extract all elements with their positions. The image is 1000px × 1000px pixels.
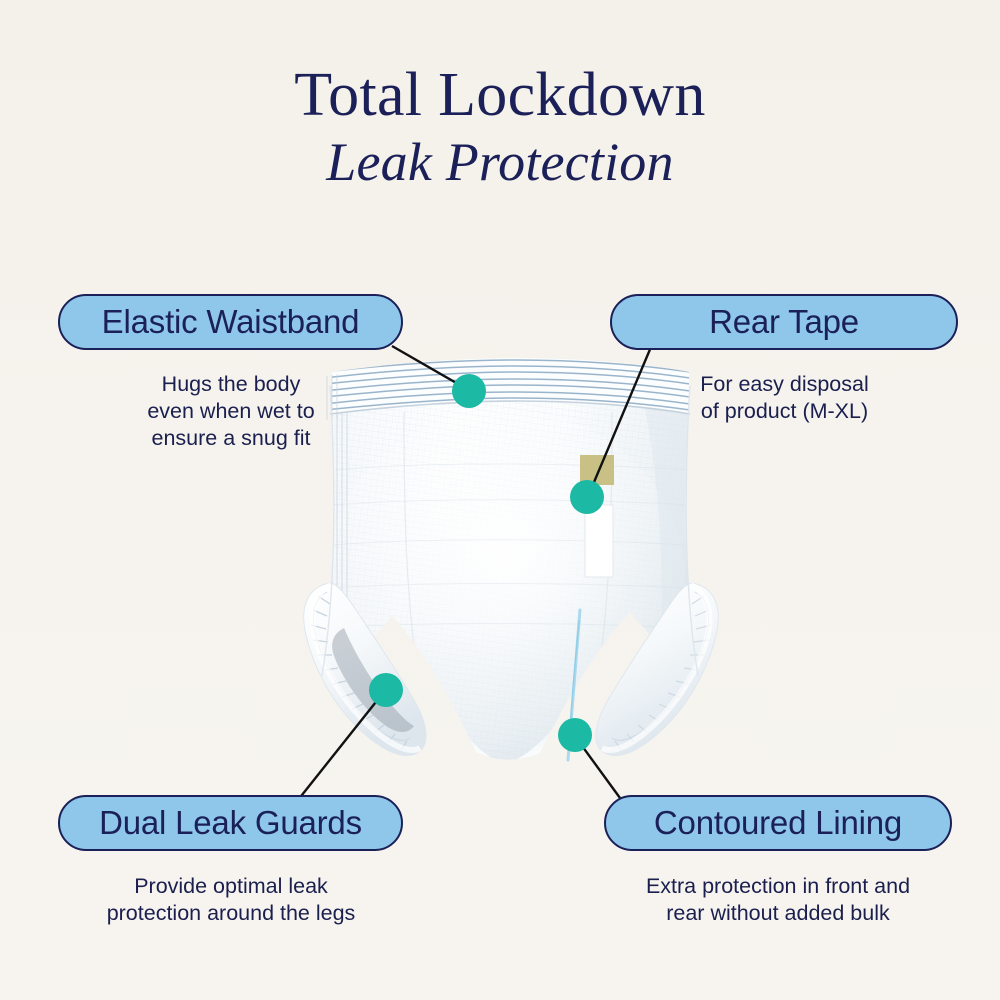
callout-pill-rear-tape[interactable]: Rear Tape <box>610 294 958 350</box>
caption-line: Hugs the body <box>70 371 392 398</box>
caption-line: of product (M-XL) <box>622 398 947 425</box>
caption-line: protection around the legs <box>56 900 406 927</box>
dot-elastic-waistband <box>452 374 486 408</box>
callout-label-rear-tape: Rear Tape <box>709 303 859 341</box>
callout-caption-elastic-waistband: Hugs the body even when wet to ensure a … <box>70 371 392 452</box>
callout-label-contoured-lining: Contoured Lining <box>654 804 902 842</box>
infographic-canvas: Total Lockdown Leak Protection <box>0 0 1000 1000</box>
dot-dual-leak-guards <box>369 673 403 707</box>
caption-line: For easy disposal <box>622 371 947 398</box>
leader-line-dual-leak-guards <box>298 693 383 800</box>
callout-label-elastic-waistband: Elastic Waistband <box>102 303 360 341</box>
callout-pill-elastic-waistband[interactable]: Elastic Waistband <box>58 294 403 350</box>
callout-caption-contoured-lining: Extra protection in front and rear witho… <box>594 873 962 927</box>
callout-pill-dual-leak-guards[interactable]: Dual Leak Guards <box>58 795 403 851</box>
callout-label-dual-leak-guards: Dual Leak Guards <box>99 804 362 842</box>
callout-pill-contoured-lining[interactable]: Contoured Lining <box>604 795 952 851</box>
caption-line: rear without added bulk <box>594 900 962 927</box>
caption-line: Provide optimal leak <box>56 873 406 900</box>
dot-contoured-lining <box>558 718 592 752</box>
caption-line: ensure a snug fit <box>70 425 392 452</box>
caption-line: Extra protection in front and <box>594 873 962 900</box>
callout-caption-dual-leak-guards: Provide optimal leak protection around t… <box>56 873 406 927</box>
dot-rear-tape <box>570 480 604 514</box>
caption-line: even when wet to <box>70 398 392 425</box>
callout-caption-rear-tape: For easy disposal of product (M-XL) <box>622 371 947 425</box>
